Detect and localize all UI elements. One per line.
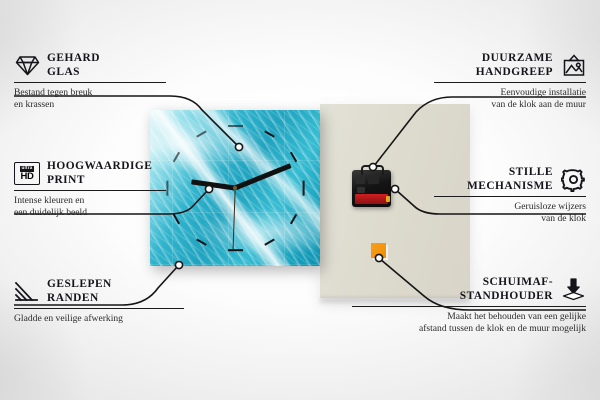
callout-durable-hanger: DUURZAME HANDGREEP Eenvoudige installati… [434,52,586,110]
callout-subtitle-line2: een duidelijk beeld [14,207,166,219]
divider [434,196,586,197]
clock-center-pivot [233,186,237,190]
gear-icon [560,168,586,192]
callout-title-line1: SCHUIMAF- [460,276,553,290]
callout-title-line1: DUURZAME [476,52,553,66]
divider [14,308,184,309]
callout-subtitle-line2: van de klok [434,213,586,225]
clock-tick [302,180,304,195]
ultra-hd-icon-main: HD [20,172,33,182]
callout-title-line2: GLAS [47,66,100,80]
divider [14,82,166,83]
callout-subtitle-line1: Maakt het behouden van een gelijke [352,311,586,323]
callout-hd-print: ultra HD HOOGWAARDIGE PRINT Intense kleu… [14,160,166,218]
ultra-hd-icon: ultra HD [14,162,40,186]
callout-subtitle-line2: van de klok aan de muur [434,99,586,111]
clock-mechanism [352,170,391,207]
callout-subtitle-line1: Geruisloze wijzers [434,201,586,213]
diamond-icon [14,54,40,78]
callout-title-line1: GESLEPEN [47,278,112,292]
clock-tick [228,125,243,127]
callout-silent-mechanism: STILLE MECHANISME Geruisloze wijzers van… [434,166,586,224]
callout-title-line2: HANDGREEP [476,66,553,80]
clock-tick [166,180,168,195]
press-down-icon [560,278,586,302]
divider [14,190,166,191]
picture-frame-icon [560,54,586,78]
callout-subtitle-line1: Gladde en veilige afwerking [14,313,184,325]
divider [434,82,586,83]
callout-foam-spacer: SCHUIMAF- STANDHOUDER Maakt het behouden… [352,276,586,334]
callout-tempered-glass: GEHARD GLAS Bestand tegen breuk en krass… [14,52,166,110]
glass-wall-clock [150,110,320,266]
callout-title-line2: PRINT [47,174,152,188]
battery [355,194,388,204]
mechanism-hanger-lug [361,165,384,175]
clock-tick [228,249,243,251]
callout-subtitle-line1: Bestand tegen breuk [14,87,166,99]
callout-subtitle-line1: Eenvoudige installatie [434,87,586,99]
callout-title-line2: RANDEN [47,292,112,306]
callout-subtitle-line1: Intense kleuren en [14,195,166,207]
callout-subtitle-line2: afstand tussen de klok en de muur mogeli… [352,323,586,335]
divider [352,306,586,307]
callout-title-line2: STANDHOUDER [460,290,553,304]
foam-spacer [371,243,386,258]
callout-beveled-edges: GESLEPEN RANDEN Gladde en veilige afwerk… [14,278,184,325]
callout-title-line1: STILLE [467,166,553,180]
callout-title-line1: HOOGWAARDIGE [47,160,152,174]
callout-subtitle-line2: en krassen [14,99,166,111]
infographic-canvas: GEHARD GLAS Bestand tegen breuk en krass… [0,0,600,400]
callout-title-line2: MECHANISME [467,180,553,194]
callout-title-line1: GEHARD [47,52,100,66]
beveled-edges-icon [14,280,40,304]
